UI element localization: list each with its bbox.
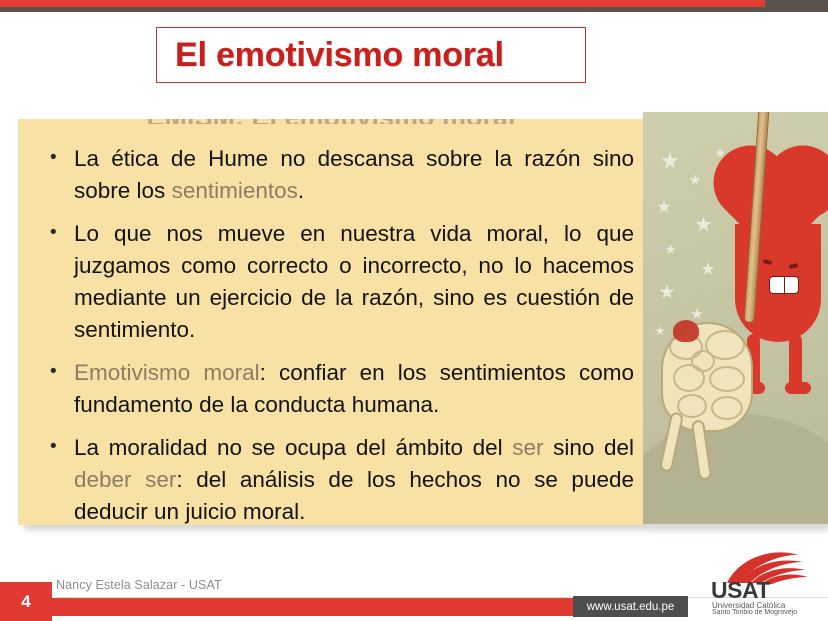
- slide-title-box: El emotivismo moral: [156, 27, 586, 83]
- bullet-text: sino del: [544, 435, 635, 460]
- heart-foot-right: [785, 382, 811, 394]
- bullet-text: La moralidad no se ocupa del ámbito del: [74, 435, 512, 460]
- bullet-emphasis-text: Emotivismo moral: [74, 360, 260, 385]
- bullet-emphasis-text: sentimientos: [172, 178, 298, 203]
- top-accent-bar-red: [0, 0, 828, 7]
- content-panel: EMISM: El emotivismo moral La ética de H…: [18, 119, 644, 525]
- slide-number-label: 4: [21, 592, 30, 612]
- usat-subtitle-line2: Santo Toribio de Mogrovejo: [712, 609, 797, 616]
- bullet-text: .: [298, 178, 304, 203]
- slide-number-badge: 4: [0, 582, 52, 621]
- heart-mouth: [769, 276, 799, 294]
- bullet-emphasis-text: deber ser: [74, 467, 176, 492]
- illustration-heart-beating-brain: [643, 112, 828, 524]
- bullet-item: Lo que nos mueve en nuestra vida moral, …: [44, 218, 634, 346]
- bullet-item: La moralidad no se ocupa del ámbito del …: [44, 432, 634, 525]
- brain-fold: [691, 350, 715, 372]
- brain-fold: [709, 366, 745, 392]
- bullet-item: Emotivismo moral: confiar en los sentimi…: [44, 357, 634, 421]
- top-accent-bar-gray: [0, 7, 828, 12]
- bullet-item: La ética de Hume no descansa sobre la ra…: [44, 143, 634, 207]
- bullet-list: La ética de Hume no descansa sobre la ra…: [44, 143, 634, 525]
- top-accent-bar-gray-right: [765, 0, 828, 7]
- bullet-text: La ética de Hume no descansa sobre la ra…: [74, 146, 634, 203]
- brain-fold: [711, 396, 743, 420]
- footer-url-badge[interactable]: www.usat.edu.pe: [573, 596, 688, 617]
- bullet-emphasis-text: ser: [512, 435, 543, 460]
- ghost-heading: EMISM: El emotivismo moral: [18, 119, 644, 124]
- bullet-text: Lo que nos mueve en nuestra vida moral, …: [74, 221, 634, 342]
- footer-url-label: www.usat.edu.pe: [587, 601, 675, 613]
- footer-red-bar: [0, 598, 580, 616]
- page-title: El emotivismo moral: [175, 36, 504, 75]
- usat-logo: USAT Universidad Católica Santo Toribio …: [707, 551, 819, 615]
- usat-wordmark: USAT: [711, 579, 770, 602]
- slide: El emotivismo moral EMISM: El emotivismo…: [0, 0, 828, 621]
- footer-author-label: Nancy Estela Salazar - USAT: [56, 578, 222, 592]
- brain-wound: [673, 320, 699, 342]
